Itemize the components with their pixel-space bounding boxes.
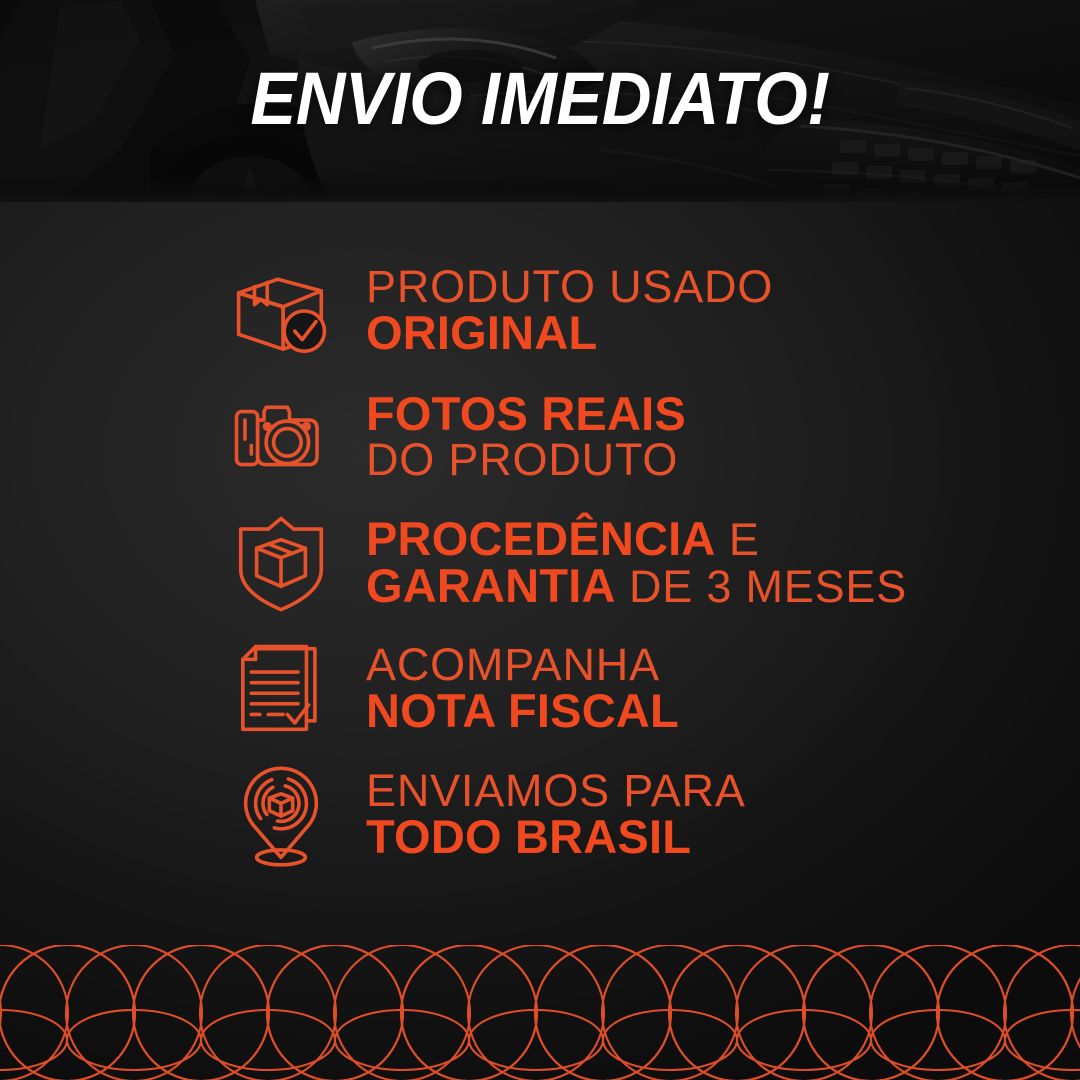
feature-line-2: TODO BRASIL [366, 814, 746, 861]
feature-row-nota-fiscal: ACOMPANHA NOTA FISCAL [0, 626, 1080, 752]
feature-line-2: DO PRODUTO [366, 438, 686, 483]
feature-list: PRODUTO USADO ORIGINAL [0, 248, 1080, 878]
feature-row-todo-brasil: ENVIAMOS PARA TODO BRASIL [0, 752, 1080, 878]
feature-line-1: PROCEDÊNCIA E [366, 516, 907, 563]
feature-text: PROCEDÊNCIA E GARANTIA DE 3 MESES [366, 516, 907, 609]
feature-row-produto-usado-original: PRODUTO USADO ORIGINAL [0, 248, 1080, 374]
box-check-icon [228, 258, 334, 364]
feature-line-1: FOTOS REAIS [366, 391, 686, 438]
header-banner: ENVIO IMEDIATO! [0, 0, 1080, 202]
location-pin-box-icon [228, 762, 334, 868]
feature-row-fotos-reais: FOTOS REAIS DO PRODUTO [0, 374, 1080, 500]
feature-line-1: ENVIAMOS PARA [366, 769, 746, 814]
feature-text: FOTOS REAIS DO PRODUTO [366, 391, 686, 482]
feature-line-2: ORIGINAL [366, 310, 773, 357]
feature-text: ENVIAMOS PARA TODO BRASIL [366, 769, 746, 860]
feature-line-2: NOTA FISCAL [366, 688, 679, 735]
feature-line-1: ACOMPANHA [366, 643, 679, 688]
header-title: ENVIO IMEDIATO! [38, 62, 1042, 136]
camera-icon [228, 384, 334, 490]
feature-row-procedencia-garantia: PROCEDÊNCIA E GARANTIA DE 3 MESES [0, 500, 1080, 626]
shield-box-icon [228, 510, 334, 616]
feature-line-1: PRODUTO USADO [366, 265, 773, 310]
promo-banner: ENVIO IMEDIATO! [0, 0, 1080, 1080]
feature-text: ACOMPANHA NOTA FISCAL [366, 643, 679, 734]
document-check-icon [228, 636, 334, 742]
footer-decorative-pattern [0, 945, 1080, 1080]
feature-text: PRODUTO USADO ORIGINAL [366, 265, 773, 356]
feature-line-2: GARANTIA DE 3 MESES [366, 563, 907, 610]
